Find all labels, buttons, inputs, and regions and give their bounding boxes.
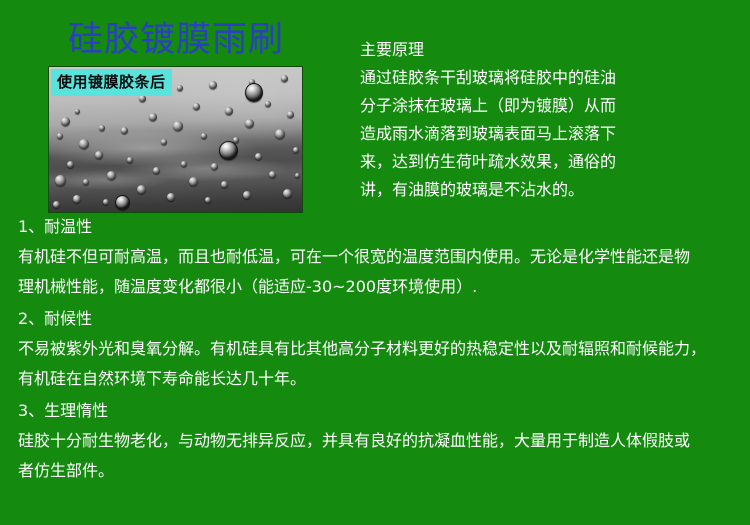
water-drop	[95, 151, 103, 159]
photo-caption-label: 使用镀膜胶条后	[51, 69, 172, 96]
water-drop	[243, 191, 251, 199]
water-drop	[73, 195, 81, 203]
section-line: 不易被紫外光和臭氧分解。有机硅具有比其他高分子材料更好的热稳定性以及耐辐照和耐候…	[18, 334, 750, 364]
water-drop-large	[115, 195, 130, 210]
water-drop	[221, 181, 228, 188]
feature-section-2: 2、耐候性 不易被紫外光和臭氧分解。有机硅具有比其他高分子材料更好的热稳定性以及…	[18, 304, 750, 394]
water-drop	[103, 199, 109, 205]
water-drop	[265, 101, 271, 107]
water-drop	[281, 75, 288, 82]
water-drop	[275, 129, 285, 139]
section-line: 有机硅在自然环境下寿命能长达几十年。	[18, 364, 750, 394]
feature-sections: 1、耐温性 有机硅不但可耐高温，而且也耐低温，可在一个很宽的温度范围内使用。无论…	[18, 212, 750, 488]
section-heading: 3、生理惰性	[18, 396, 750, 426]
water-drop	[57, 133, 63, 139]
page-title: 硅胶镀膜雨刷	[68, 20, 284, 60]
section-line: 理机械性能，随温度变化都很小（能适应-30~200度环境使用）.	[18, 272, 750, 302]
feature-section-3: 3、生理惰性 硅胶十分耐生物老化，与动物无排异反应，并具有良好的抗凝血性能，大量…	[18, 396, 750, 486]
water-drop	[139, 95, 146, 102]
water-drop	[189, 177, 198, 186]
water-drop	[167, 193, 175, 201]
water-drop	[293, 147, 299, 153]
water-drop	[75, 109, 80, 114]
intro-heading: 主要原理	[360, 36, 740, 64]
water-drop	[173, 121, 183, 131]
water-drop	[193, 103, 200, 110]
water-drop	[99, 125, 105, 131]
section-line: 者仿生部件。	[18, 456, 750, 486]
section-line: 有机硅不但可耐高温，而且也耐低温，可在一个很宽的温度范围内使用。无论是化学性能还…	[18, 242, 750, 272]
water-drop	[53, 201, 60, 208]
water-drop-large	[245, 83, 263, 102]
intro-line: 来，达到仿生荷叶疏水效果，通俗的	[360, 148, 740, 176]
section-heading: 2、耐候性	[18, 304, 750, 334]
water-drop	[127, 157, 133, 163]
section-heading: 1、耐温性	[18, 212, 750, 242]
water-drop	[177, 85, 183, 91]
water-drop	[201, 133, 207, 139]
water-drop	[295, 173, 300, 178]
water-drop	[153, 167, 160, 174]
water-drop	[161, 139, 167, 145]
water-drop	[79, 139, 89, 149]
intro-line: 分子涂抹在玻璃上（即为镀膜）从而	[360, 92, 740, 120]
water-drop	[287, 111, 294, 118]
product-detail-page: 硅胶镀膜雨刷	[0, 0, 750, 525]
intro-text-block: 主要原理 通过硅胶条干刮玻璃将硅胶中的硅油 分子涂抹在玻璃上（即为镀膜）从而 造…	[360, 36, 740, 204]
intro-line: 造成雨水滴落到玻璃表面马上滚落下	[360, 120, 740, 148]
water-drop	[107, 171, 116, 180]
water-droplet-photo: 使用镀膜胶条后	[48, 66, 303, 213]
feature-section-1: 1、耐温性 有机硅不但可耐高温，而且也耐低温，可在一个很宽的温度范围内使用。无论…	[18, 212, 750, 302]
water-drop	[137, 185, 146, 194]
water-drop	[181, 161, 187, 167]
water-drop	[83, 179, 89, 185]
water-drop	[55, 175, 66, 186]
intro-line: 通过硅胶条干刮玻璃将硅胶中的硅油	[360, 64, 740, 92]
water-drop	[211, 163, 218, 170]
water-drop	[205, 197, 211, 203]
water-drop	[61, 117, 70, 126]
water-drop	[149, 113, 157, 121]
water-drop	[225, 107, 233, 115]
water-drop	[209, 81, 217, 89]
water-drop	[283, 189, 292, 198]
section-line: 硅胶十分耐生物老化，与动物无排异反应，并具有良好的抗凝血性能，大量用于制造人体假…	[18, 426, 750, 456]
water-drop	[255, 153, 262, 160]
water-drop	[245, 119, 254, 128]
water-drop	[121, 127, 128, 134]
water-drop	[67, 161, 74, 168]
water-drop	[269, 171, 276, 178]
intro-line: 讲，有油膜的玻璃是不沾水的。	[360, 176, 740, 204]
water-drop-large	[219, 141, 238, 160]
